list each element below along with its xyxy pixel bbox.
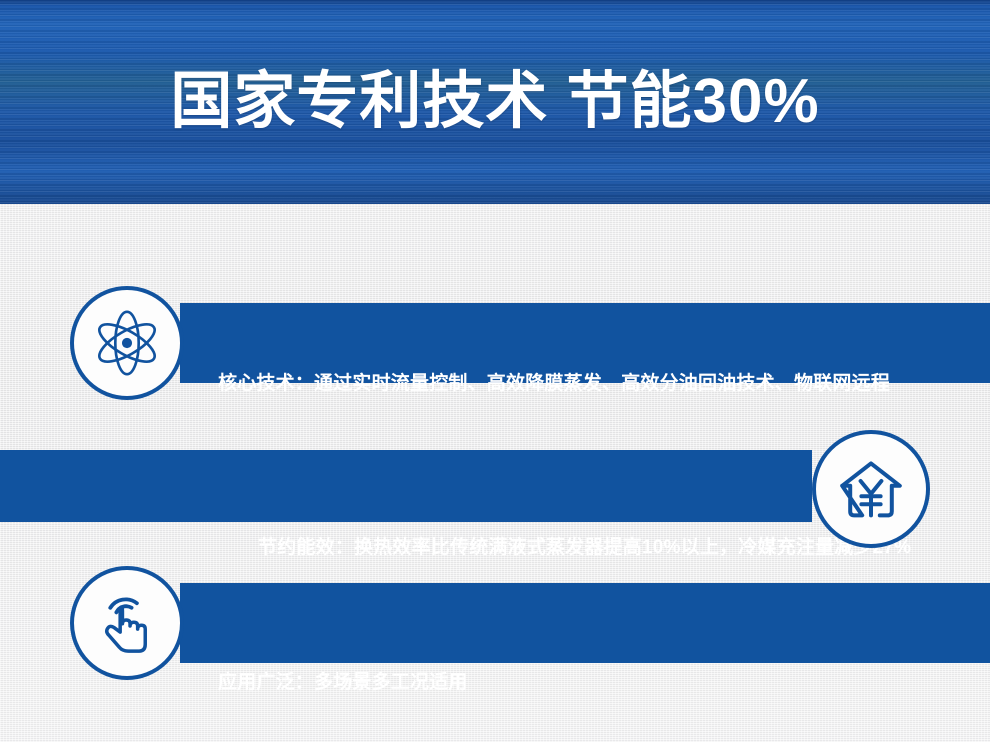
- feature-text-line: 核心技术：通过实时流量控制、高效降膜蒸发、高效分油回油技术、物联网远程: [218, 369, 890, 399]
- feature-text-line: 节约能效：换热效率比传统满液式蒸发器提高10%以上，冷媒充注量减少27%: [258, 533, 911, 563]
- feature-text-line: 应用广泛：多场景多工况适用: [218, 668, 468, 698]
- atom-icon: [88, 304, 166, 382]
- house-yuan-icon: [831, 449, 911, 529]
- tap-hand-icon: [89, 585, 165, 661]
- atom-icon-circle: [70, 286, 184, 400]
- feature-row-core-technology: 核心技术：通过实时流量控制、高效降膜蒸发、高效分油回油技术、物联网远程 智能服务…: [0, 0, 990, 742]
- feature-text-wide-application: 应用广泛：多场景多工况适用: [218, 608, 468, 742]
- tap-hand-icon-circle: [70, 566, 184, 680]
- feature-banner-page: 国家专利技术 节能30% 核心技术：通过实时流量控制、高效降膜蒸发、高效分油回油…: [0, 0, 990, 742]
- house-yuan-icon-circle: [812, 430, 930, 548]
